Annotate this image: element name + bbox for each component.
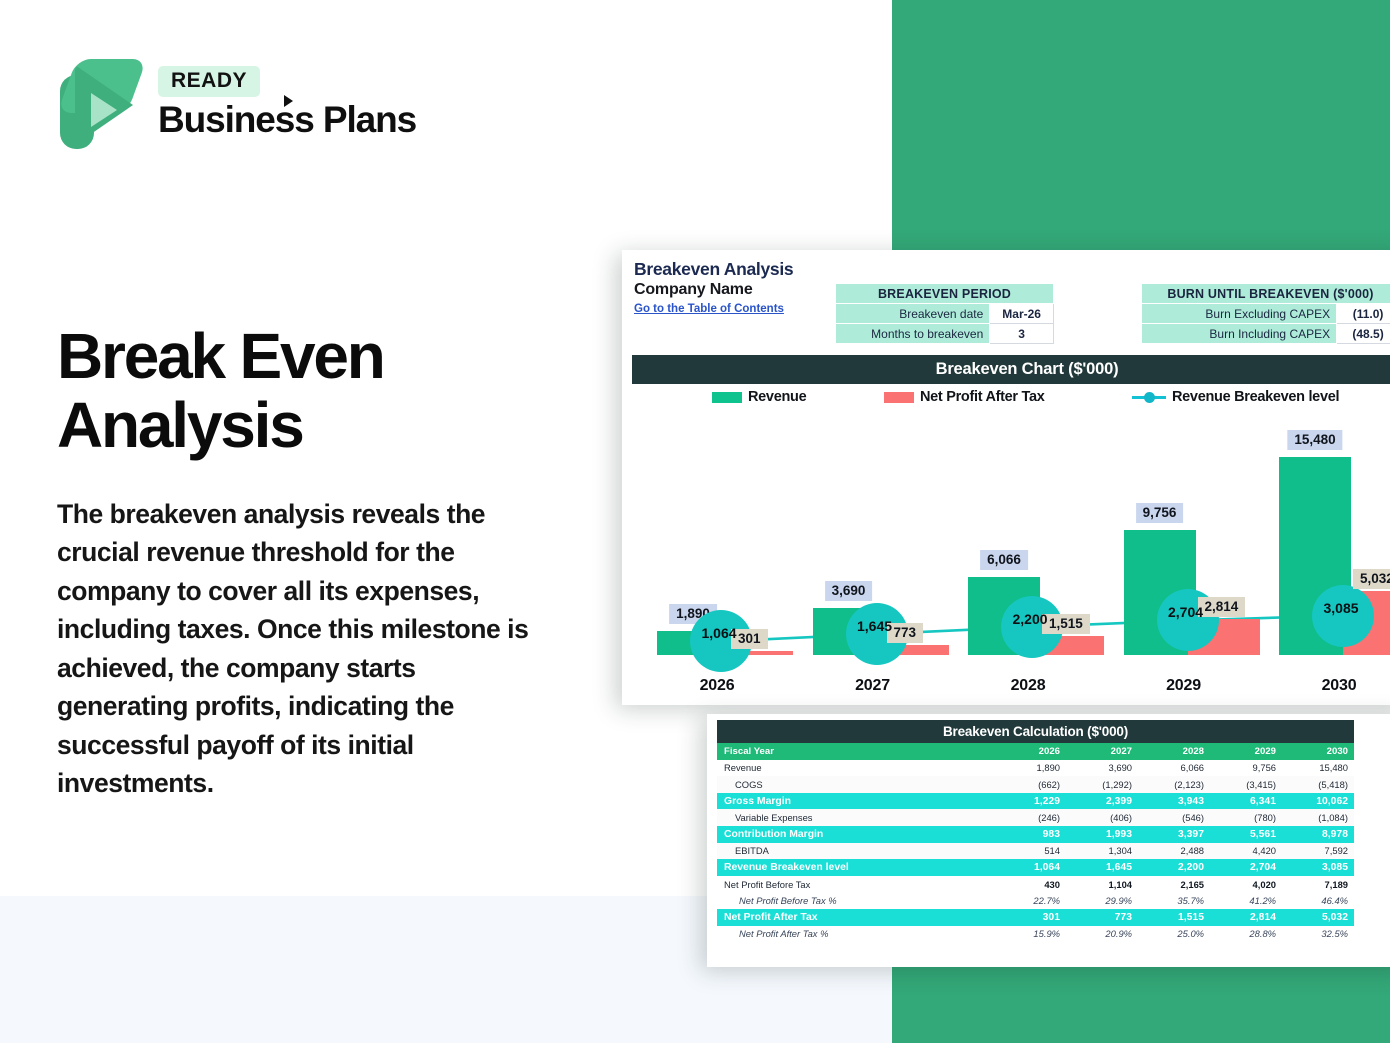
brand-logo: READY Business Plans — [57, 57, 416, 149]
breakeven-period-title: BREAKEVEN PERIOD — [836, 284, 1054, 304]
column-header-fiscal-year: Fiscal Year — [717, 743, 994, 760]
net-profit-value-label-2029: 2,814 — [1198, 597, 1246, 617]
legend-swatch-icon — [712, 392, 742, 403]
breakeven-calculation-table: Fiscal Year20262027202820292030 Revenue1… — [717, 743, 1354, 942]
cell-2026: 1,064 — [994, 859, 1066, 876]
cell-2028: 25.0% — [1138, 926, 1210, 943]
row-label: Revenue Breakeven level — [717, 859, 994, 876]
cell-2026: (662) — [994, 776, 1066, 793]
page-description: The breakeven analysis reveals the cruci… — [57, 495, 544, 802]
cell-2027: 1,304 — [1066, 843, 1138, 860]
row-label: Net Profit After Tax — [717, 909, 994, 926]
legend-item-revenue-breakeven-level[interactable]: Revenue Breakeven level — [1132, 389, 1339, 405]
x-axis-label-2027: 2027 — [803, 677, 943, 695]
brand-accent-triangle-icon — [284, 95, 293, 107]
sheet-title: Breakeven Analysis — [634, 259, 1390, 280]
cell-2027: 3,690 — [1066, 760, 1138, 777]
legend-label-npat: Net Profit After Tax — [920, 389, 1045, 405]
table-row: COGS(662)(1,292)(2,123)(3,415)(5,418) — [717, 776, 1354, 793]
cell-2027: 29.9% — [1066, 892, 1138, 909]
row-label: Contribution Margin — [717, 826, 994, 843]
cell-2027: 1,645 — [1066, 859, 1138, 876]
brand-badge: READY — [158, 66, 260, 97]
table-row: Net Profit After Tax %15.9%20.9%25.0%28.… — [717, 926, 1354, 943]
x-axis-label-2028: 2028 — [958, 677, 1098, 695]
table-row: EBITDA5141,3042,4884,4207,592 — [717, 843, 1354, 860]
cell-2028: 1,515 — [1138, 909, 1210, 926]
cell-2026: 15.9% — [994, 926, 1066, 943]
slide-root: READY Business Plans Break Even Analysis… — [0, 0, 1390, 1043]
x-axis-label-2029: 2029 — [1114, 677, 1254, 695]
cell-2028: 2,488 — [1138, 843, 1210, 860]
row-label: Gross Margin — [717, 793, 994, 810]
table-row: Revenue1,8903,6906,0669,75615,480 — [717, 760, 1354, 777]
chart-group-2027: 3,6907731,645 — [803, 418, 943, 655]
column-header-2028: 2028 — [1138, 743, 1210, 760]
breakeven-value-label-2027: 1,645 — [857, 618, 892, 634]
cell-2026: 983 — [994, 826, 1066, 843]
legend-line-marker-icon — [1132, 391, 1166, 403]
cell-2027: 1,104 — [1066, 876, 1138, 893]
burn-excl-capex-value[interactable]: (11.0) — [1337, 304, 1390, 324]
row-label: Revenue — [717, 760, 994, 777]
breakeven-value-label-2029: 2,704 — [1168, 604, 1203, 620]
table-row: Revenue Breakeven level1,0641,6452,2002,… — [717, 859, 1354, 876]
x-axis-label-2030: 2030 — [1269, 677, 1390, 695]
cell-2027: 1,993 — [1066, 826, 1138, 843]
cell-2028: 35.7% — [1138, 892, 1210, 909]
column-header-2029: 2029 — [1210, 743, 1282, 760]
cell-2029: 4,020 — [1210, 876, 1282, 893]
cell-2028: 3,397 — [1138, 826, 1210, 843]
cell-2027: (406) — [1066, 809, 1138, 826]
chart-title-band: Breakeven Chart ($'000) — [632, 355, 1390, 384]
burn-incl-capex-value[interactable]: (48.5) — [1337, 324, 1390, 344]
cell-2030: 3,085 — [1282, 859, 1354, 876]
revenue-value-label-2027: 3,690 — [825, 581, 873, 601]
table-header-row: Fiscal Year20262027202820292030 — [717, 743, 1354, 760]
revenue-value-label-2030: 15,480 — [1287, 430, 1342, 450]
cell-2030: 7,189 — [1282, 876, 1354, 893]
cell-2030: 10,062 — [1282, 793, 1354, 810]
cell-2029: 41.2% — [1210, 892, 1282, 909]
cell-2028: (546) — [1138, 809, 1210, 826]
brand-name: Business Plans — [158, 101, 416, 140]
chart-group-2028: 6,0661,5152,200 — [958, 418, 1098, 655]
row-label: Net Profit Before Tax % — [717, 892, 994, 909]
cell-2028: (2,123) — [1138, 776, 1210, 793]
cell-2029: 5,561 — [1210, 826, 1282, 843]
table-row: Net Profit After Tax3017731,5152,8145,03… — [717, 909, 1354, 926]
cell-2026: 430 — [994, 876, 1066, 893]
cell-2030: (1,084) — [1282, 809, 1354, 826]
burn-until-breakeven-table: BURN UNTIL BREAKEVEN ($'000) Burn Exclud… — [1141, 283, 1390, 344]
table-row: Breakeven date Mar-26 — [836, 304, 1054, 324]
legend-label-breakeven: Revenue Breakeven level — [1172, 389, 1339, 405]
column-header-2030: 2030 — [1282, 743, 1354, 760]
cell-2029: 6,341 — [1210, 793, 1282, 810]
legend-item-net-profit-after-tax[interactable]: Net Profit After Tax — [884, 389, 1045, 405]
page-title: Break Even Analysis — [57, 322, 577, 460]
legend-item-revenue[interactable]: Revenue — [712, 389, 806, 405]
cell-2028: 2,165 — [1138, 876, 1210, 893]
chart-legend: Revenue Net Profit After Tax Revenue Bre… — [622, 384, 1390, 410]
cell-2026: 22.7% — [994, 892, 1066, 909]
cell-2027: 20.9% — [1066, 926, 1138, 943]
play-triangle-logo-icon — [57, 57, 139, 149]
table-row: Gross Margin1,2292,3993,9436,34110,062 — [717, 793, 1354, 810]
cell-2026: (246) — [994, 809, 1066, 826]
cell-2026: 1,890 — [994, 760, 1066, 777]
months-to-breakeven-value[interactable]: 3 — [990, 324, 1054, 344]
cell-2027: 2,399 — [1066, 793, 1138, 810]
breakeven-date-value[interactable]: Mar-26 — [990, 304, 1054, 324]
cell-2030: 32.5% — [1282, 926, 1354, 943]
revenue-value-label-2028: 6,066 — [980, 550, 1028, 570]
revenue-value-label-2029: 9,756 — [1136, 503, 1184, 523]
row-label: Net Profit After Tax % — [717, 926, 994, 943]
cell-2030: 7,592 — [1282, 843, 1354, 860]
table-row: Variable Expenses(246)(406)(546)(780)(1,… — [717, 809, 1354, 826]
burn-title: BURN UNTIL BREAKEVEN ($'000) — [1142, 284, 1390, 304]
cell-2029: 2,704 — [1210, 859, 1282, 876]
table-of-contents-link[interactable]: Go to the Table of Contents — [634, 303, 784, 315]
net-profit-value-label-2028: 1,515 — [1042, 614, 1090, 634]
cell-2029: (3,415) — [1210, 776, 1282, 793]
cell-2029: 9,756 — [1210, 760, 1282, 777]
table-row: Months to breakeven 3 — [836, 324, 1054, 344]
x-axis-label-2026: 2026 — [647, 677, 787, 695]
cell-2029: (780) — [1210, 809, 1282, 826]
table-row: Burn Including CAPEX (48.5) — [1142, 324, 1390, 344]
breakeven-value-label-2026: 1,064 — [701, 625, 736, 641]
table-row: Burn Excluding CAPEX (11.0) — [1142, 304, 1390, 324]
row-label: Variable Expenses — [717, 809, 994, 826]
table-row: Net Profit Before Tax4301,1042,1654,0207… — [717, 876, 1354, 893]
chart-group-2029: 9,7562,8142,704 — [1114, 418, 1254, 655]
breakeven-chart-panel: Breakeven Analysis Company Name Go to th… — [622, 250, 1390, 705]
months-to-breakeven-label: Months to breakeven — [836, 324, 990, 344]
cell-2030: 8,978 — [1282, 826, 1354, 843]
cell-2027: (1,292) — [1066, 776, 1138, 793]
cell-2030: 46.4% — [1282, 892, 1354, 909]
table-row: Contribution Margin9831,9933,3975,5618,9… — [717, 826, 1354, 843]
cell-2028: 3,943 — [1138, 793, 1210, 810]
legend-swatch-icon — [884, 392, 914, 403]
row-label: COGS — [717, 776, 994, 793]
cell-2029: 4,420 — [1210, 843, 1282, 860]
breakeven-value-label-2028: 2,200 — [1012, 611, 1047, 627]
breakeven-calculation-panel: Breakeven Calculation ($'000) Fiscal Yea… — [707, 714, 1390, 967]
cell-2028: 2,200 — [1138, 859, 1210, 876]
breakeven-marker-2030[interactable] — [1312, 585, 1374, 647]
cell-2030: (5,418) — [1282, 776, 1354, 793]
column-header-2026: 2026 — [994, 743, 1066, 760]
breakeven-value-label-2030: 3,085 — [1323, 600, 1358, 616]
column-header-2027: 2027 — [1066, 743, 1138, 760]
cell-2026: 301 — [994, 909, 1066, 926]
decor-green-top-block — [892, 0, 1390, 251]
decor-green-bottom-block — [892, 965, 1390, 1043]
chart-plot-area: 20261,8903011,06420273,6907731,64520286,… — [634, 418, 1390, 703]
breakeven-date-label: Breakeven date — [836, 304, 990, 324]
legend-label-revenue: Revenue — [748, 389, 806, 405]
cell-2030: 15,480 — [1282, 760, 1354, 777]
cell-2029: 28.8% — [1210, 926, 1282, 943]
cell-2026: 514 — [994, 843, 1066, 860]
cell-2027: 773 — [1066, 909, 1138, 926]
row-label: EBITDA — [717, 843, 994, 860]
burn-excl-capex-label: Burn Excluding CAPEX — [1142, 304, 1337, 324]
cell-2030: 5,032 — [1282, 909, 1354, 926]
cell-2028: 6,066 — [1138, 760, 1210, 777]
chart-group-2026: 1,8903011,064 — [647, 418, 787, 655]
table-row: Net Profit Before Tax %22.7%29.9%35.7%41… — [717, 892, 1354, 909]
cell-2029: 2,814 — [1210, 909, 1282, 926]
cell-2026: 1,229 — [994, 793, 1066, 810]
burn-incl-capex-label: Burn Including CAPEX — [1142, 324, 1337, 344]
calculation-title-band: Breakeven Calculation ($'000) — [717, 720, 1354, 743]
net-profit-value-label-2030: 5,032 — [1353, 569, 1390, 589]
breakeven-period-table: BREAKEVEN PERIOD Breakeven date Mar-26 M… — [835, 283, 1054, 344]
row-label: Net Profit Before Tax — [717, 876, 994, 893]
chart-group-2030: 15,4805,0323,085 — [1269, 418, 1390, 655]
